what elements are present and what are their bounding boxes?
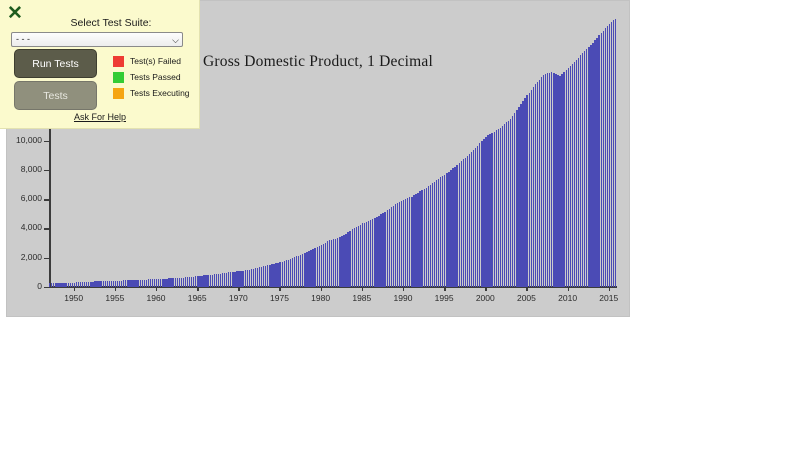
x-axis-tick-label: 1975 — [270, 293, 289, 303]
legend-label: Tests Passed — [130, 72, 181, 83]
x-axis-tick-label: 1970 — [229, 293, 248, 303]
legend-color-swatch — [113, 56, 124, 67]
y-axis-tick-mark — [44, 287, 49, 288]
x-axis-tick-label: 2000 — [476, 293, 495, 303]
legend-color-swatch — [113, 88, 124, 99]
chart-bar — [615, 19, 616, 288]
tests-button[interactable]: Tests — [14, 81, 97, 110]
legend-label: Test(s) Failed — [130, 56, 181, 67]
x-axis-tick-label: 2005 — [517, 293, 536, 303]
x-axis-tick-label: 1995 — [435, 293, 454, 303]
x-axis-tick-label: 2010 — [558, 293, 577, 303]
legend-color-swatch — [113, 72, 124, 83]
x-axis-tick-label: 1985 — [352, 293, 371, 303]
page-root: Gross Domestic Product, 1 Decimal 02,000… — [0, 0, 800, 450]
x-axis-tick-label: 2015 — [599, 293, 618, 303]
test-suite-select-value: - - - — [16, 34, 30, 44]
x-axis-tick-label: 1960 — [147, 293, 166, 303]
chevron-down-icon: ⌵ — [172, 34, 179, 46]
test-runner-panel: ✕ Select Test Suite: - - - ⌵ Run Tests T… — [0, 0, 200, 129]
y-axis-tick-label: 4,000 — [21, 222, 42, 232]
legend-label: Tests Executing — [130, 88, 190, 99]
y-axis-tick-label: 8,000 — [21, 164, 42, 174]
select-test-suite-label: Select Test Suite: — [0, 17, 200, 29]
x-axis-tick-label: 1950 — [64, 293, 83, 303]
test-suite-select[interactable]: - - - ⌵ — [11, 32, 183, 47]
ask-for-help-link[interactable]: Ask For Help — [0, 112, 200, 122]
x-axis-tick-label: 1955 — [105, 293, 124, 303]
run-tests-button[interactable]: Run Tests — [14, 49, 97, 78]
x-axis-tick-label: 1990 — [394, 293, 413, 303]
y-axis-tick-label: 6,000 — [21, 193, 42, 203]
x-axis-tick-label: 1980 — [311, 293, 330, 303]
x-axis-tick-label: 1965 — [188, 293, 207, 303]
y-axis-tick-label: 10,000 — [16, 135, 42, 145]
y-axis-tick-label: 2,000 — [21, 252, 42, 262]
y-axis-tick-label: 0 — [37, 281, 42, 291]
